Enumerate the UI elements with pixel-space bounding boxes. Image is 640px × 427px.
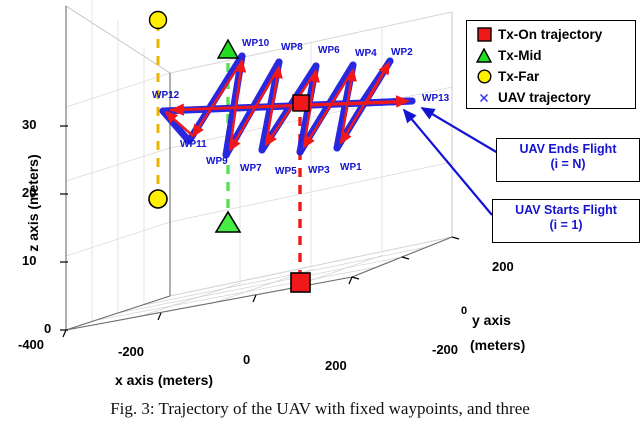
legend-label-tx-far: Tx-Far xyxy=(498,69,539,84)
square-marker xyxy=(473,27,495,42)
waypoint-label-wp8: WP8 xyxy=(281,42,303,53)
figure-3d-uav-trajectory: 30 20 10 0 z axis (meters) -400 -200 0 2… xyxy=(0,0,640,427)
x-tick-200: 200 xyxy=(325,358,347,373)
annotation-ends-line2: (i = N) xyxy=(501,157,635,172)
legend-item-tx-far: Tx-Far xyxy=(473,66,635,87)
waypoint-label-wp13: WP13 xyxy=(422,93,449,104)
cross-marker xyxy=(473,92,495,104)
y-tick-minus200: -200 xyxy=(432,342,458,357)
legend-label-tx-mid: Tx-Mid xyxy=(498,48,542,63)
tx-on-marker-air xyxy=(293,95,309,111)
legend-item-uav: UAV trajectory xyxy=(473,87,635,108)
waypoint-label-wp6: WP6 xyxy=(318,45,340,56)
annotation-starts-line2: (i = 1) xyxy=(497,218,635,233)
x-tick-minus400: -400 xyxy=(18,337,44,352)
x-axis-label: x axis (meters) xyxy=(115,372,213,388)
z-tick-0: 0 xyxy=(44,321,51,336)
y-axis-label-line2: (meters) xyxy=(470,337,525,353)
waypoint-label-wp9: WP9 xyxy=(206,156,228,167)
legend-label-tx-on: Tx-On trajectory xyxy=(498,27,602,42)
legend-item-tx-on: Tx-On trajectory xyxy=(473,24,635,45)
triangle-marker xyxy=(473,48,495,63)
legend-label-uav: UAV trajectory xyxy=(498,90,591,105)
waypoint-label-wp7: WP7 xyxy=(240,163,262,174)
waypoint-label-wp11: WP11 xyxy=(180,139,207,150)
waypoint-label-wp5: WP5 xyxy=(275,166,297,177)
tx-mid-marker-air xyxy=(218,40,238,58)
annotation-starts-line1: UAV Starts Flight xyxy=(497,203,635,218)
legend: Tx-On trajectory Tx-Mid Tx-Far UAV traje… xyxy=(466,20,636,109)
waypoint-label-wp4: WP4 xyxy=(355,48,377,59)
figure-caption: Fig. 3: Trajectory of the UAV with fixed… xyxy=(0,399,640,419)
legend-item-tx-mid: Tx-Mid xyxy=(473,45,635,66)
tx-far-marker-air xyxy=(150,12,167,29)
waypoint-label-wp3: WP3 xyxy=(308,165,330,176)
tx-on-marker-ground xyxy=(291,273,310,292)
waypoint-label-wp10: WP10 xyxy=(242,38,269,49)
tx-far-marker-ground xyxy=(149,190,167,208)
y-tick-0: 0 xyxy=(461,305,467,317)
y-tick-200: 200 xyxy=(492,259,514,274)
annotation-uav-ends-flight: UAV Ends Flight (i = N) xyxy=(496,138,640,182)
annotation-ends-line1: UAV Ends Flight xyxy=(501,142,635,157)
circle-marker xyxy=(473,69,495,84)
y-axis-label-line1: y axis xyxy=(472,312,511,328)
z-axis-label: z axis (meters) xyxy=(25,118,41,288)
waypoint-label-wp1: WP1 xyxy=(340,162,362,173)
waypoint-label-wp2: WP2 xyxy=(391,47,413,58)
x-tick-minus200: -200 xyxy=(118,344,144,359)
annotation-uav-starts-flight: UAV Starts Flight (i = 1) xyxy=(492,199,640,243)
x-tick-0: 0 xyxy=(243,352,250,367)
waypoint-label-wp12: WP12 xyxy=(152,90,179,101)
